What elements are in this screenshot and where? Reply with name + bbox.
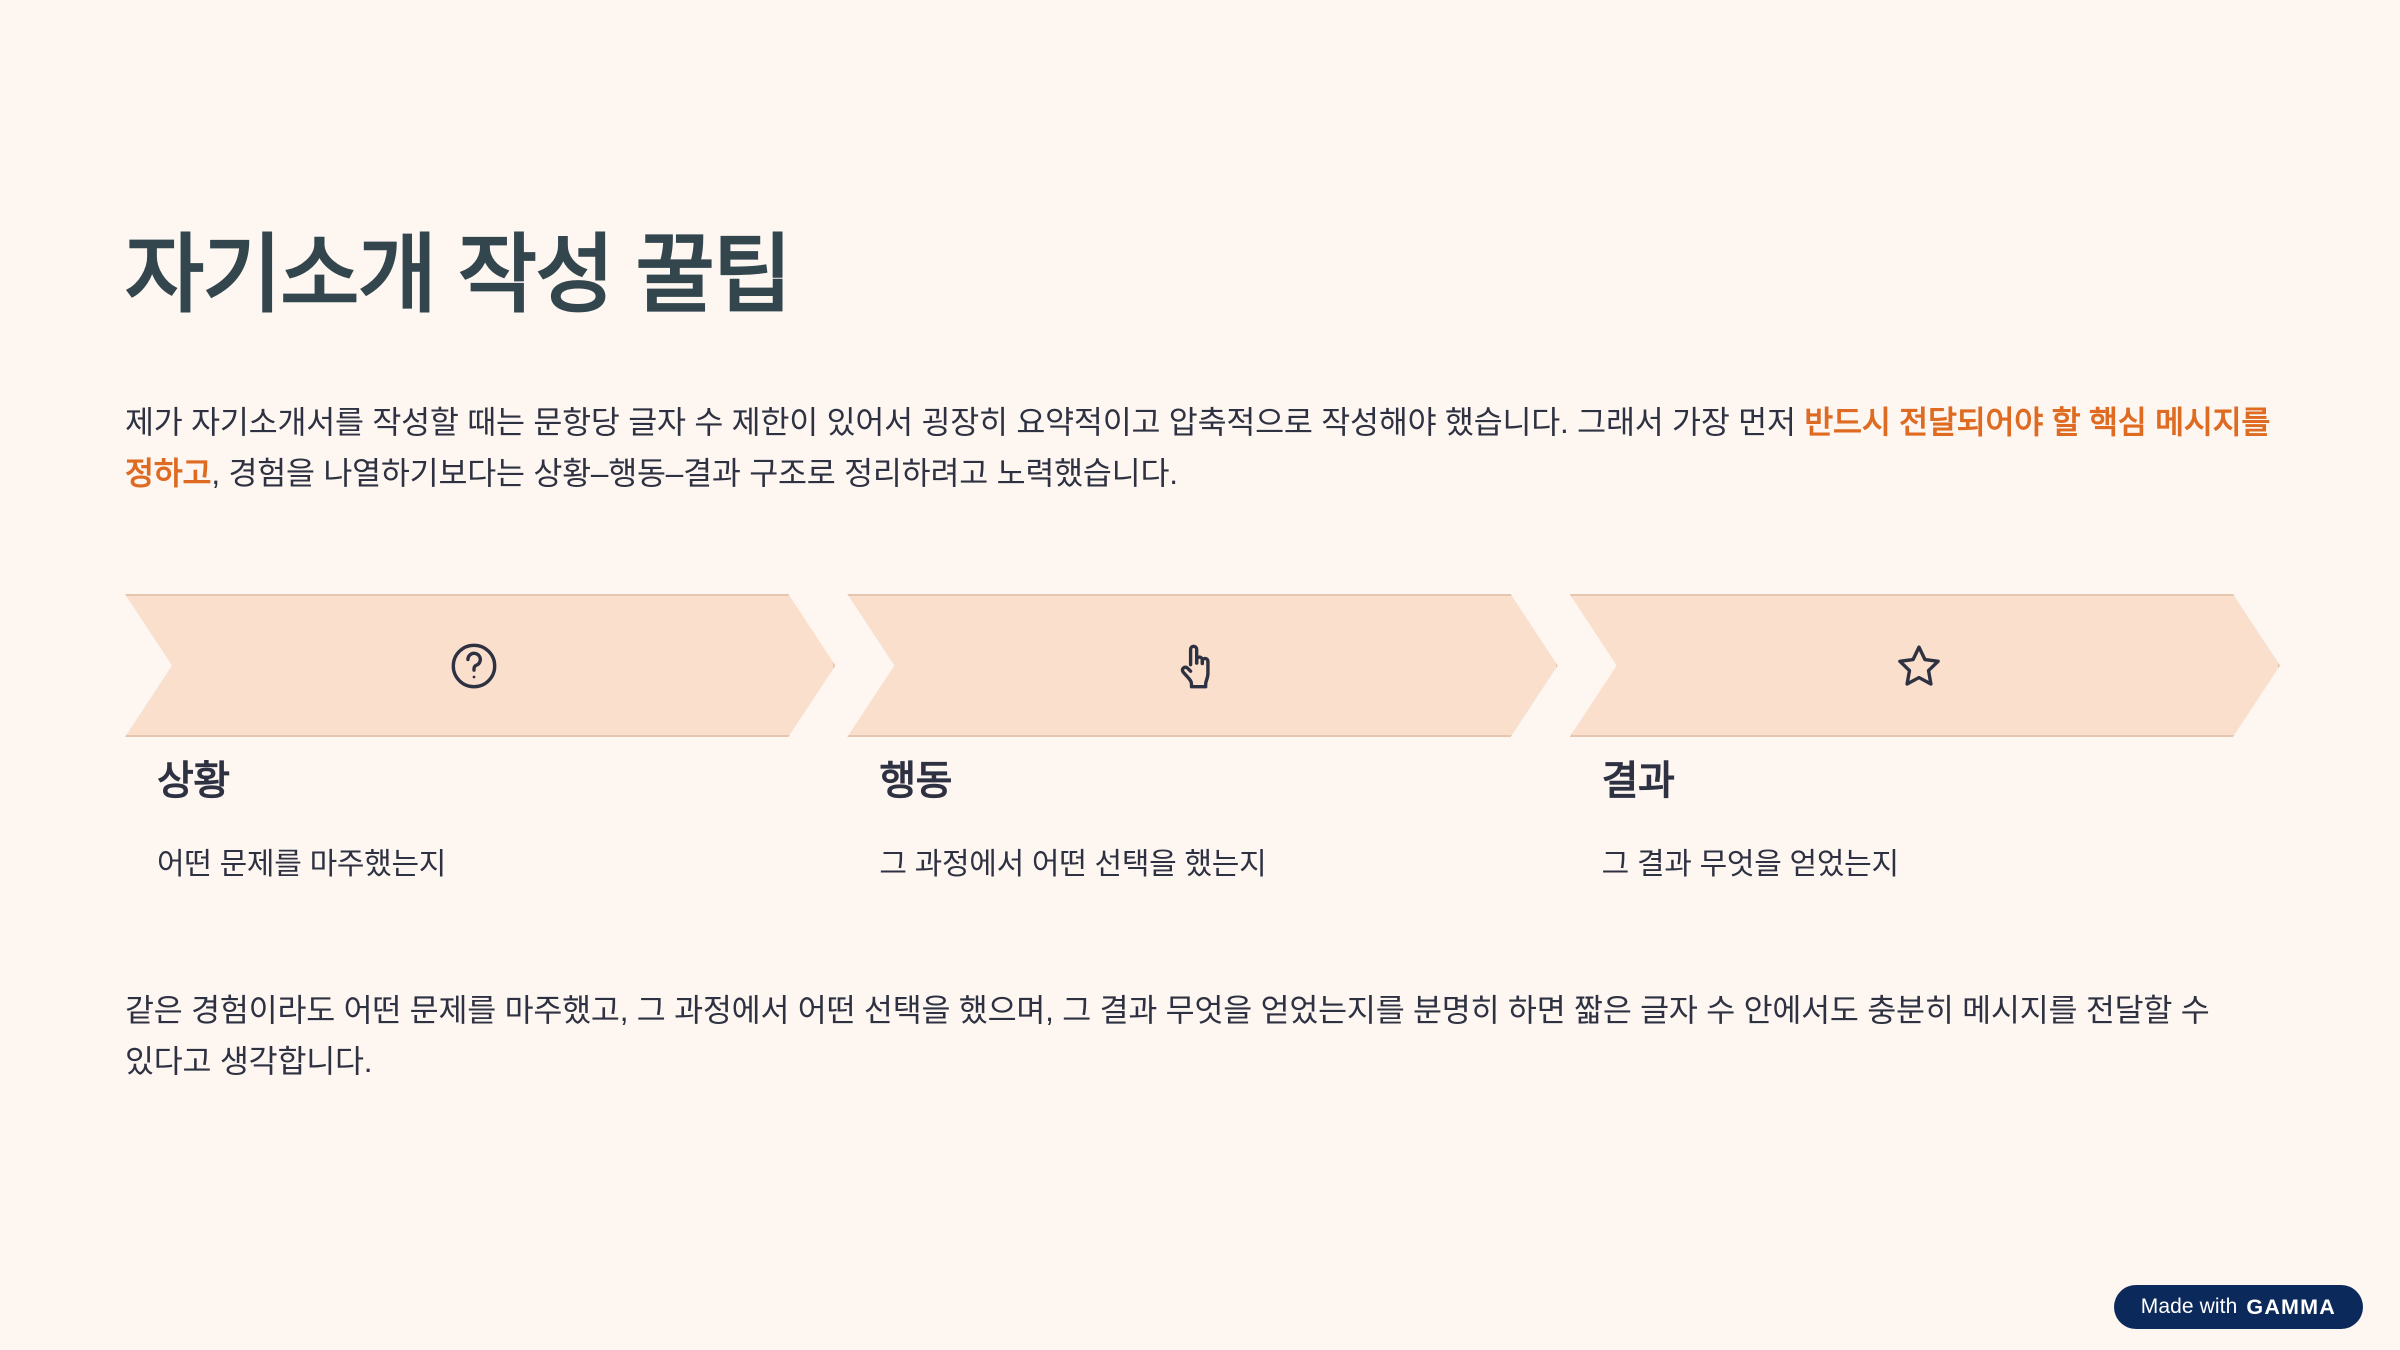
process-chevron-row (125, 594, 2280, 737)
process-step-labels: 상황 어떤 문제를 마주했는지 행동 그 과정에서 어떤 선택을 했는지 결과 … (125, 755, 2280, 887)
intro-paragraph: 제가 자기소개서를 작성할 때는 문항당 글자 수 제한이 있어서 굉장히 요약… (125, 320, 2280, 499)
badge-brand-label: GAMMA (2246, 1295, 2336, 1320)
made-with-gamma-badge[interactable]: Made with GAMMA (2114, 1285, 2363, 1329)
chevron-step-3[interactable] (1570, 594, 2280, 737)
page-title: 자기소개 작성 꿀팁 (125, 0, 2275, 320)
badge-prefix-label: Made with (2141, 1295, 2238, 1319)
step-column-2: 행동 그 과정에서 어떤 선택을 했는지 (847, 755, 1557, 887)
slide-canvas: 자기소개 작성 꿀팁 제가 자기소개서를 작성할 때는 문항당 글자 수 제한이… (0, 0, 2400, 1350)
step-heading-1: 상황 (157, 755, 835, 807)
pointing-hand-cursor-icon (1169, 639, 1223, 693)
star-outline-icon (1892, 639, 1946, 693)
slide-content: 자기소개 작성 꿀팁 제가 자기소개서를 작성할 때는 문항당 글자 수 제한이… (125, 0, 2275, 499)
step-heading-2: 행동 (879, 755, 1557, 807)
step-description-3: 그 결과 무엇을 얻었는지 (1602, 807, 2280, 887)
intro-paragraph-part2: , 경험을 나열하기보다는 상황–행동–결과 구조로 정리하려고 노력했습니다. (211, 455, 1177, 491)
step-description-2: 그 과정에서 어떤 선택을 했는지 (879, 807, 1557, 887)
chevron-step-2[interactable] (847, 594, 1557, 737)
outro-paragraph: 같은 경험이라도 어떤 문제를 마주했고, 그 과정에서 어떤 선택을 했으며,… (125, 985, 2285, 1087)
question-mark-circle-icon (447, 639, 501, 693)
step-heading-3: 결과 (1602, 755, 2280, 807)
step-description-1: 어떤 문제를 마주했는지 (157, 807, 835, 887)
step-column-3: 결과 그 결과 무엇을 얻었는지 (1570, 755, 2280, 887)
chevron-step-1[interactable] (125, 594, 835, 737)
step-column-1: 상황 어떤 문제를 마주했는지 (125, 755, 835, 887)
intro-paragraph-part1: 제가 자기소개서를 작성할 때는 문항당 글자 수 제한이 있어서 굉장히 요약… (125, 404, 1804, 440)
